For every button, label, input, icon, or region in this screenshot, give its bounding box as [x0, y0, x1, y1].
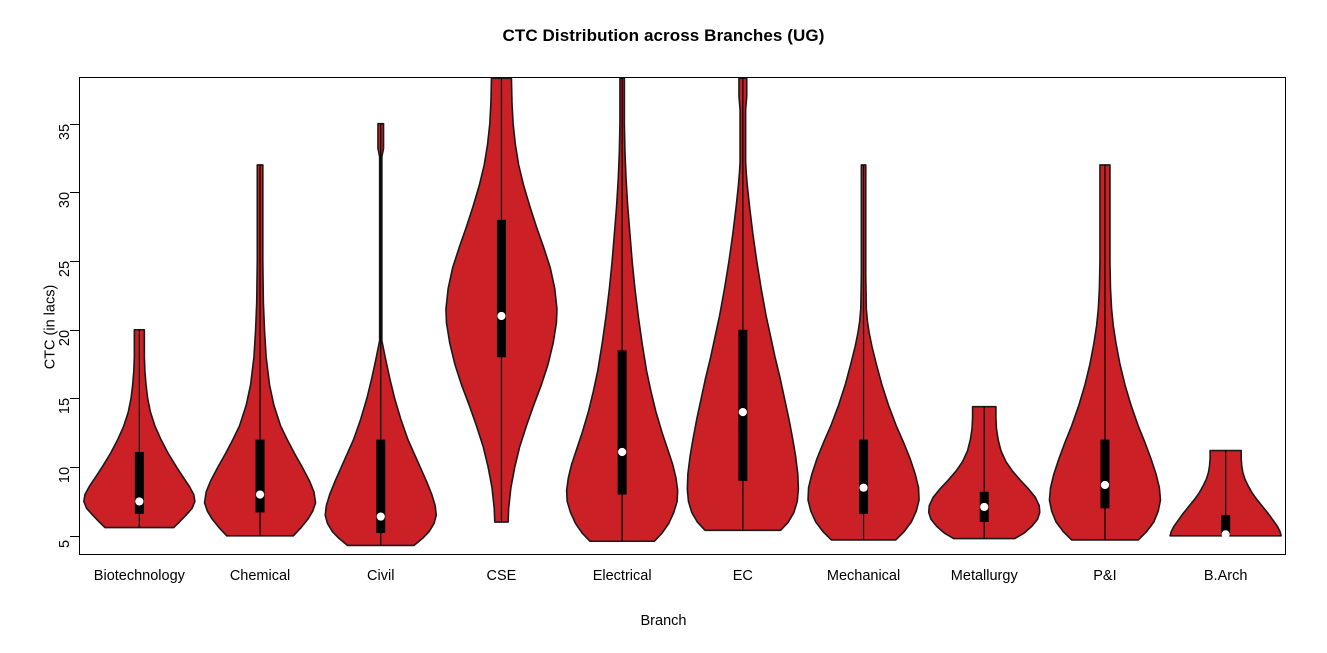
violin-series-layer: [79, 77, 1286, 555]
x-axis-tick-label: CSE: [487, 568, 517, 584]
violin-median-marker: [497, 312, 505, 320]
violin-iqr-box: [256, 440, 265, 513]
y-axis-tick-label: 20: [57, 330, 73, 346]
x-axis-tick-label: Biotechnology: [94, 568, 185, 584]
x-axis-tick-label: Mechanical: [827, 568, 900, 584]
violin-median-marker: [618, 448, 626, 456]
x-axis-tick-label: Chemical: [230, 568, 290, 584]
x-axis-title: Branch: [0, 613, 1327, 629]
violin-iqr-box: [859, 440, 868, 514]
y-axis-title: CTC (in lacs): [42, 284, 58, 369]
y-axis-tick-label: 15: [57, 398, 73, 414]
violin-median-marker: [859, 484, 867, 492]
violin-median-marker: [1101, 481, 1109, 489]
violin-median-marker: [1222, 530, 1230, 538]
y-axis-tick-label: 35: [57, 124, 73, 140]
x-axis-tick-label: Electrical: [593, 568, 652, 584]
violin-p-i: [1049, 165, 1160, 540]
x-axis-tick-label: B.Arch: [1204, 568, 1248, 584]
violin-median-marker: [256, 490, 264, 498]
x-axis-tick-label: Civil: [367, 568, 394, 584]
violin-iqr-box: [1100, 440, 1109, 509]
violin-median-marker: [377, 512, 385, 520]
violin-median-marker: [980, 503, 988, 511]
violin-cse: [446, 78, 557, 522]
page-title: CTC Distribution across Branches (UG): [0, 26, 1327, 46]
violin-electrical: [567, 78, 678, 541]
violin-plot-figure: CTC Distribution across Branches (UG) 51…: [0, 0, 1327, 653]
violin-iqr-box: [738, 330, 747, 481]
violin-biotechnology: [84, 330, 195, 528]
violin-chemical: [205, 165, 316, 536]
x-axis: BiotechnologyChemicalCivilCSEElectricalE…: [79, 560, 1286, 600]
violin-civil: [325, 124, 436, 546]
x-axis-tick-label: P&I: [1093, 568, 1116, 584]
y-axis-tick: [70, 536, 79, 537]
violin-iqr-box: [497, 220, 506, 357]
y-axis-tick-label: 5: [57, 540, 73, 548]
x-axis-tick-label: EC: [733, 568, 753, 584]
y-axis-tick-label: 10: [57, 467, 73, 483]
violin-median-marker: [135, 497, 143, 505]
y-axis-tick-label: 30: [57, 192, 73, 208]
violin-b-arch: [1170, 451, 1281, 539]
violin-metallurgy: [929, 407, 1040, 539]
violin-median-marker: [739, 408, 747, 416]
y-axis: 5101520253035: [0, 77, 79, 555]
violin-iqr-box: [618, 350, 627, 494]
x-axis-tick-label: Metallurgy: [951, 568, 1018, 584]
violin-mechanical: [808, 165, 919, 540]
violin-ec: [687, 78, 798, 530]
y-axis-tick-label: 25: [57, 261, 73, 277]
